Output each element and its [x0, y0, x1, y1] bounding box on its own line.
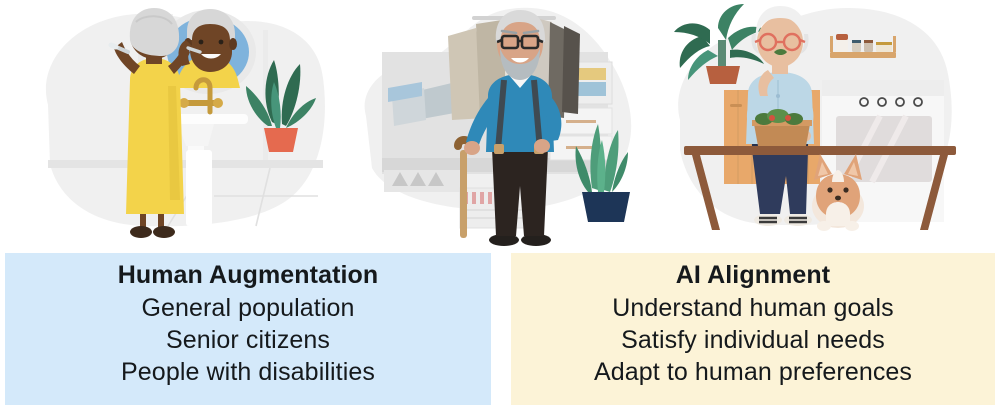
panel-right-line-1: Understand human goals [511, 292, 995, 324]
illustration-strip [0, 0, 1000, 250]
illustration-bathroom-brushing-teeth [18, 0, 348, 250]
illustration-kitchen-eating-salad [656, 0, 986, 250]
cabinet [186, 150, 212, 226]
panel-right-line-3: Adapt to human preferences [511, 356, 995, 388]
human-augmentation-panel: Human Augmentation General population Se… [5, 253, 491, 405]
ai-alignment-panel: AI Alignment Understand human goals Sati… [511, 253, 995, 405]
panel-left-title: Human Augmentation [5, 259, 491, 292]
illustration-closet-standing-with-cane [352, 0, 652, 250]
panel-left-line-1: General population [5, 292, 491, 324]
floor-band [48, 160, 323, 168]
panel-left-line-3: People with disabilities [5, 356, 491, 388]
panel-right-line-2: Satisfy individual needs [511, 324, 995, 356]
figure-root: Human Augmentation General population Se… [0, 0, 1000, 409]
panel-right-title: AI Alignment [511, 259, 995, 292]
panel-left-line-2: Senior citizens [5, 324, 491, 356]
